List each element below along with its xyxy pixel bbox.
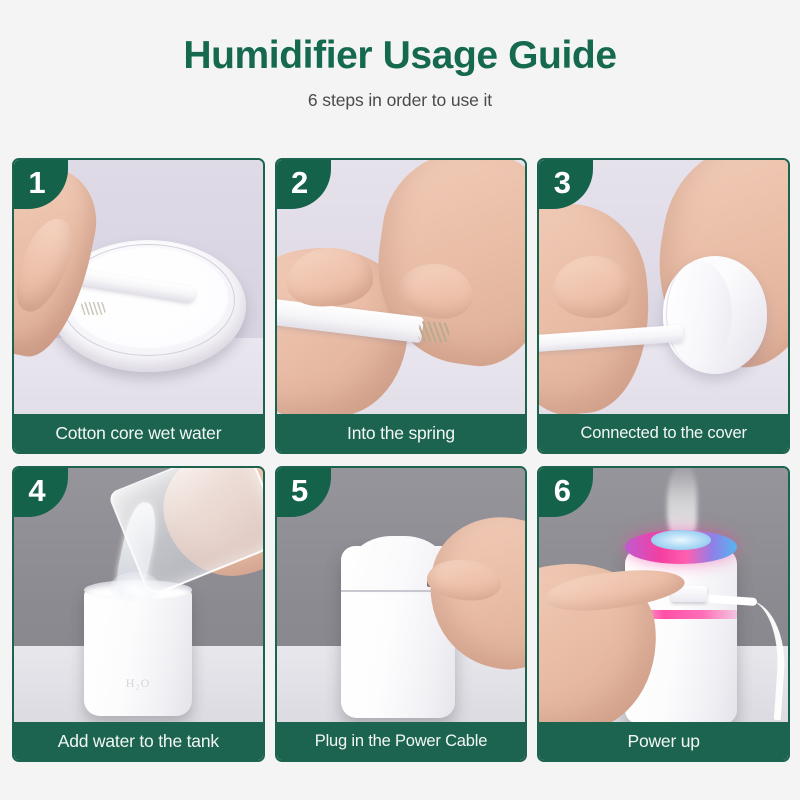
steps-grid: 1 Cotton core wet water 2 Into the sprin… [12, 158, 790, 762]
page-subtitle: 6 steps in order to use it [0, 90, 800, 111]
step-number-1: 1 [28, 167, 45, 198]
step-photo-5: 5 [277, 468, 526, 722]
step-card-4[interactable]: H₂O 4 Add water to the tank [12, 466, 265, 762]
step-card-1[interactable]: 1 Cotton core wet water [12, 158, 265, 454]
step-photo-4: H₂O 4 [14, 468, 263, 722]
step-number-3: 3 [554, 167, 571, 198]
step-photo-3: 3 [539, 160, 788, 414]
step-card-6[interactable]: 6 Power up [537, 466, 790, 762]
step-photo-6: 6 [539, 468, 788, 722]
page-title: Humidifier Usage Guide [0, 36, 800, 77]
spring-coil-icon [80, 302, 106, 315]
step-card-3[interactable]: 3 Connected to the cover [537, 158, 790, 454]
step-caption-2: Into the spring [277, 414, 526, 452]
step-photo-1: 1 [14, 160, 263, 414]
step-caption-5: Plug in the Power Cable [277, 722, 526, 760]
step-number-5: 5 [291, 475, 308, 506]
step-caption-1: Cotton core wet water [14, 414, 263, 452]
step-photo-2: 2 [277, 160, 526, 414]
step-number-2: 2 [291, 167, 308, 198]
step-caption-4: Add water to the tank [14, 722, 263, 760]
led-nozzle [651, 530, 711, 550]
tank-marking-label: H₂O [84, 676, 192, 691]
cover-face [666, 261, 732, 367]
step-number-6: 6 [554, 475, 571, 506]
water-tank [84, 586, 192, 716]
left-finger [553, 256, 631, 318]
step-card-2[interactable]: 2 Into the spring [275, 158, 528, 454]
step-card-5[interactable]: 5 Plug in the Power Cable [275, 466, 528, 762]
spring-coil-icon [418, 321, 449, 343]
usage-guide-page: Humidifier Usage Guide 6 steps in order … [0, 0, 800, 800]
bowl-water [68, 248, 228, 348]
step-number-4: 4 [28, 475, 45, 506]
step-caption-6: Power up [539, 722, 788, 760]
header: Humidifier Usage Guide 6 steps in order … [0, 0, 800, 111]
step-caption-3: Connected to the cover [539, 414, 788, 452]
